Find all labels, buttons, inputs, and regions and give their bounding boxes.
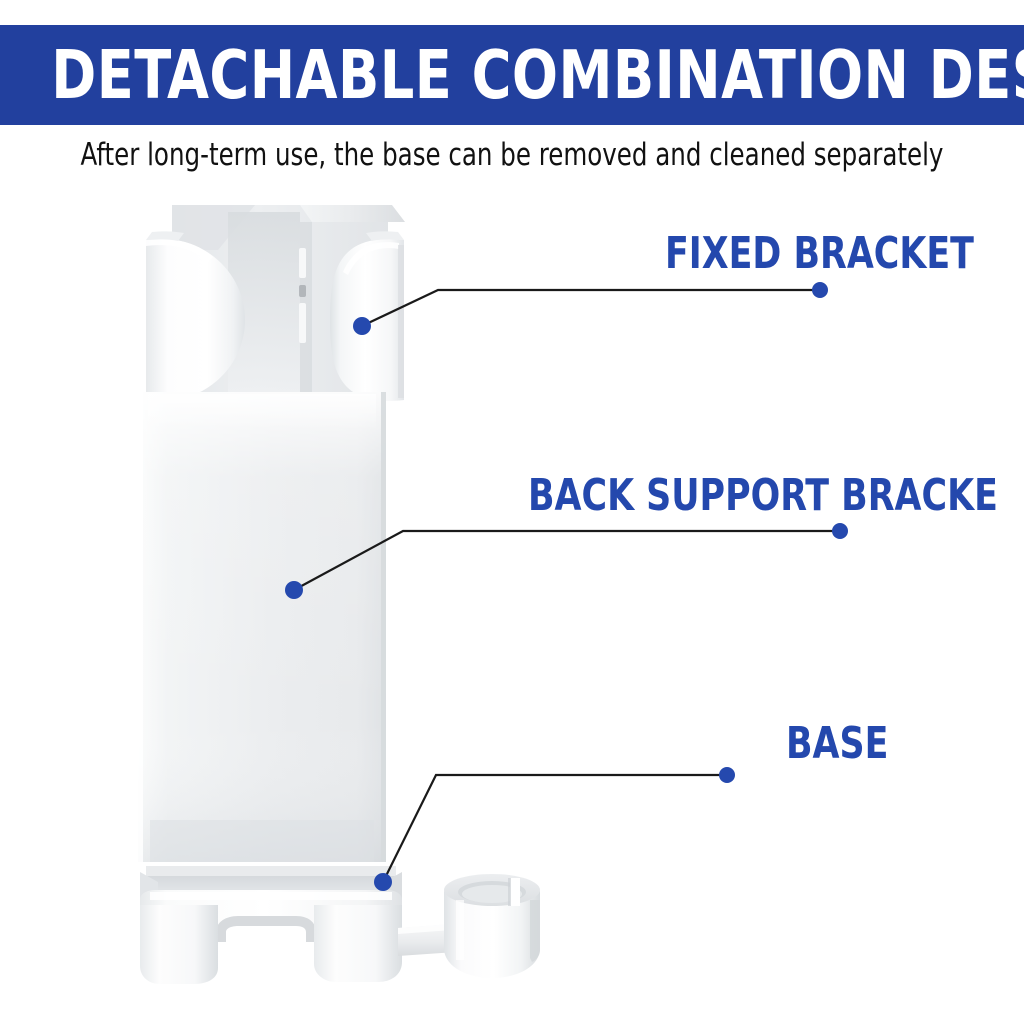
callout-label-back-support: BACK SUPPORT BRACKE	[528, 470, 998, 521]
header-banner: DETACHABLE COMBINATION DESIGN	[0, 25, 1024, 125]
bracket-latch-notch	[299, 285, 306, 297]
cup-ring-slot-edge	[508, 878, 511, 906]
bracket-latch-notch-upper	[299, 248, 306, 278]
base-cup-ring	[444, 874, 540, 978]
body-panel-shading	[138, 392, 386, 862]
base-tray-back-lip	[146, 866, 396, 876]
base-arch-shadow	[216, 916, 316, 942]
cup-ring-slot	[510, 878, 520, 906]
body-bottom-shadow	[150, 820, 374, 862]
product-part-base	[140, 866, 540, 984]
body-panel-gloss	[148, 394, 376, 430]
bracket-latch-notch-lower	[299, 303, 306, 343]
product-part-back-support	[138, 392, 386, 862]
bracket-tab-right	[330, 239, 404, 401]
page-title: DETACHABLE COMBINATION DESIGN	[51, 25, 973, 125]
cup-ring-shade	[530, 900, 540, 962]
body-left-edge	[138, 392, 143, 862]
callout-label-fixed-bracket: FIXED BRACKET	[665, 228, 974, 279]
product-part-fixed-bracket	[146, 205, 405, 401]
base-leg-right	[314, 905, 402, 982]
infographic-page: DETACHABLE COMBINATION DESIGN After long…	[0, 0, 1024, 1024]
body-right-edge	[381, 392, 386, 862]
base-tray-front-highlight	[150, 892, 392, 900]
bracket-tab-right-edge-shade	[398, 245, 404, 398]
base-leg-left	[140, 905, 218, 984]
cup-ring-highlight	[456, 900, 464, 960]
bracket-top-cap-right	[300, 205, 405, 222]
callout-label-base: BASE	[786, 718, 888, 769]
subtitle-text: After long-term use, the base can be rem…	[61, 137, 962, 173]
